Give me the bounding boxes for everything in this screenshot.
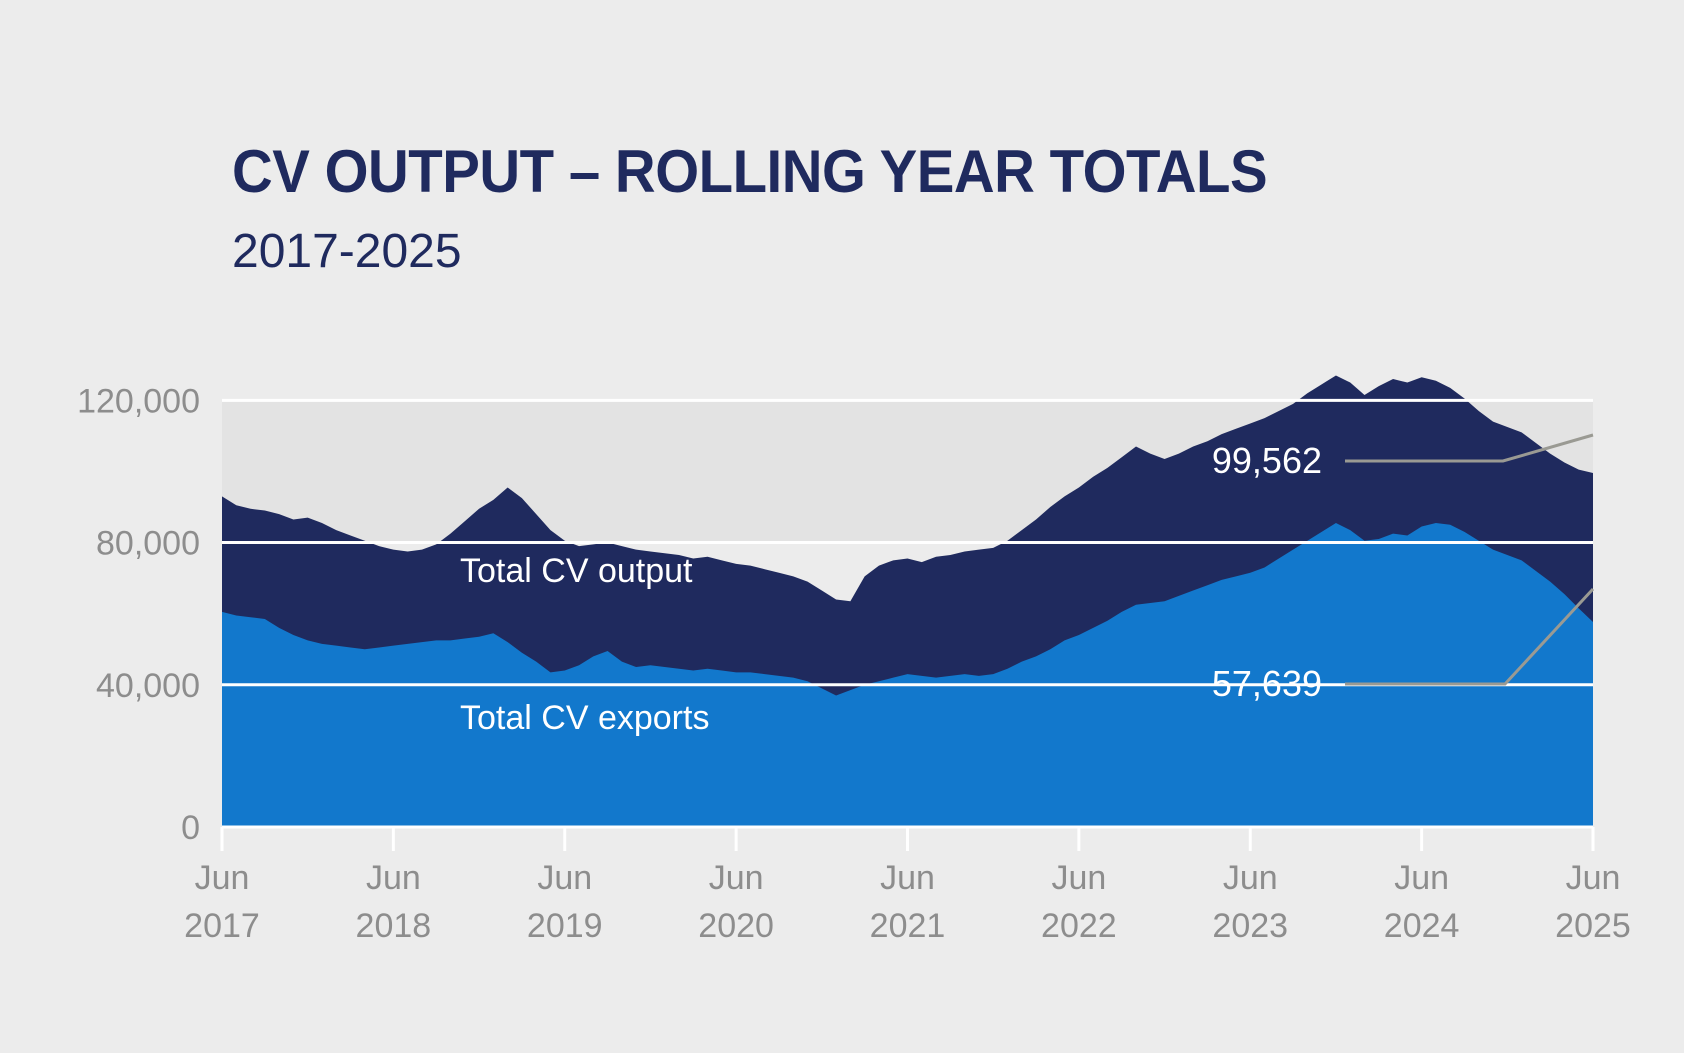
area-chart: 040,00080,000120,000 Jun2017Jun2018Jun20…	[0, 0, 1684, 1053]
x-axis-tick-month-6: Jun	[1223, 859, 1278, 897]
x-axis-tick-month-8: Jun	[1566, 859, 1621, 897]
y-axis-tick-0: 0	[181, 809, 200, 847]
x-axis-tick-month-7: Jun	[1394, 859, 1449, 897]
x-axis-tick-month-4: Jun	[880, 859, 935, 897]
x-axis-tick-month-3: Jun	[709, 859, 764, 897]
x-axis-tick-year-4: 2021	[870, 907, 946, 945]
x-axis-tick-year-6: 2023	[1212, 907, 1288, 945]
x-axis-tick-month-2: Jun	[537, 859, 592, 897]
callout-total-exports-value: 57,639	[1212, 663, 1322, 704]
callout-total-output-value: 99,562	[1212, 440, 1322, 481]
x-axis-tick-month-0: Jun	[195, 859, 250, 897]
total-cv-output-label: Total CV output	[460, 552, 693, 590]
x-axis-tick-year-7: 2024	[1384, 907, 1460, 945]
y-axis-tick-80000: 80,000	[96, 525, 200, 563]
x-axis-tick-year-8: 2025	[1555, 907, 1631, 945]
x-axis-tick-year-2: 2019	[527, 907, 603, 945]
chart-page: CV OUTPUT – ROLLING YEAR TOTALS 2017-202…	[0, 0, 1684, 1053]
x-axis-tick-year-0: 2017	[184, 907, 260, 945]
x-axis-tick-month-1: Jun	[366, 859, 421, 897]
x-axis-labels: Jun2017Jun2018Jun2019Jun2020Jun2021Jun20…	[184, 827, 1631, 945]
x-axis-tick-year-5: 2022	[1041, 907, 1117, 945]
x-axis-tick-month-5: Jun	[1051, 859, 1106, 897]
y-axis-tick-120000: 120,000	[77, 382, 200, 420]
y-axis-tick-40000: 40,000	[96, 667, 200, 705]
y-axis-labels: 040,00080,000120,000	[77, 382, 200, 847]
x-axis-tick-year-1: 2018	[356, 907, 432, 945]
x-axis-tick-year-3: 2020	[698, 907, 774, 945]
total-cv-exports-label: Total CV exports	[460, 699, 709, 737]
